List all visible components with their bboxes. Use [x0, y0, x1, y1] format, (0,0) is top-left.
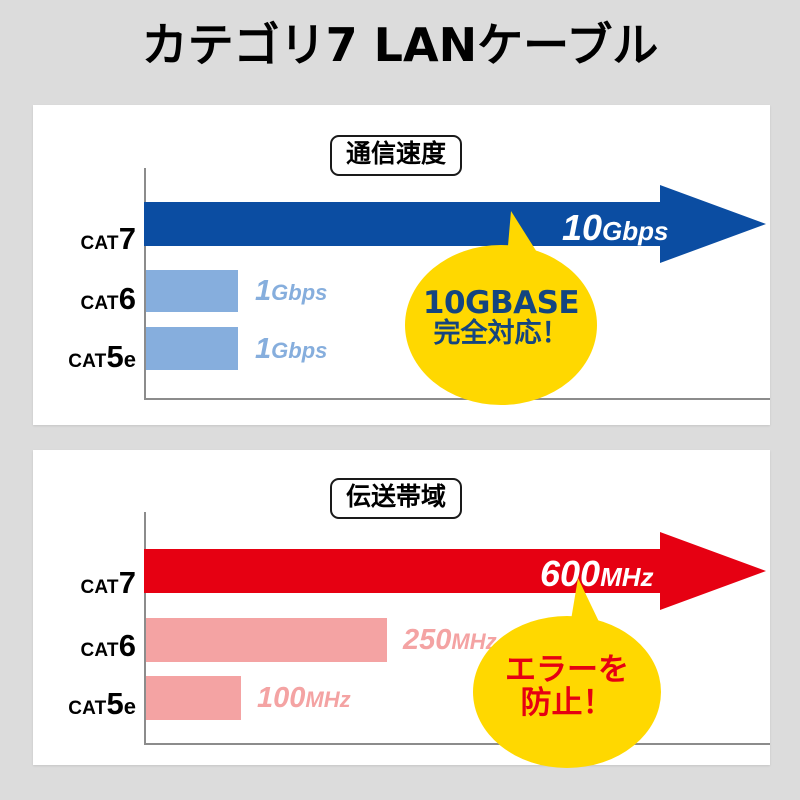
bar-value-number: 10: [562, 207, 602, 248]
cat-number: 6: [119, 281, 136, 316]
callout-line1: エラーを: [473, 654, 661, 687]
bar-cat6-band: [146, 618, 387, 662]
bar-value-number: 250: [403, 624, 451, 656]
cat-prefix: CAT: [81, 293, 119, 314]
bar-value-cat7-speed: 10Gbps: [562, 210, 669, 246]
cat-suffix: e: [124, 347, 136, 372]
cat-number: 7: [119, 221, 136, 256]
bar-value-unit: MHz: [305, 687, 350, 712]
cat-suffix: e: [124, 694, 136, 719]
category-label-cat5e-speed: CAT5e: [33, 341, 136, 372]
category-label-cat5e-band: CAT5e: [33, 688, 136, 719]
category-label-cat6-speed: CAT6: [33, 283, 136, 314]
bar-value-cat6-speed: 1Gbps: [255, 277, 327, 306]
infographic-page: カテゴリ7 LANケーブル 通信速度 CAT7 CAT6 CAT5e 10Gbp…: [0, 0, 800, 800]
page-title: カテゴリ7 LANケーブル: [0, 22, 800, 68]
cat-prefix: CAT: [68, 351, 106, 372]
bar-value-number: 100: [257, 682, 305, 714]
callout-line1: 10GBASE: [405, 287, 597, 320]
bar-value-cat5e-band: 100MHz: [257, 684, 351, 713]
bar-cat6-speed: [146, 270, 238, 312]
cat-number: 7: [119, 565, 136, 600]
cat-prefix: CAT: [68, 698, 106, 719]
bar-value-cat5e-speed: 1Gbps: [255, 335, 327, 364]
callout-bubble-band: エラーを 防止！: [473, 616, 661, 768]
bar-value-number: 1: [255, 275, 271, 307]
bar-value-unit: Gbps: [271, 338, 327, 363]
chart-panel-band: 伝送帯域 CAT7 CAT6 CAT5e 600MHz 250MHz: [33, 450, 770, 765]
callout-bubble-speed: 10GBASE 完全対応！: [405, 245, 597, 405]
section-header-speed: 通信速度: [330, 135, 462, 176]
category-label-cat7-speed: CAT7: [33, 223, 136, 254]
callout-text-speed: 10GBASE 完全対応！: [405, 287, 597, 348]
cat-prefix: CAT: [81, 233, 119, 254]
chart-panel-speed: 通信速度 CAT7 CAT6 CAT5e 10Gbps 1Gbps: [33, 105, 770, 425]
bar-value-number: 1: [255, 333, 271, 365]
bar-cat7-band: 600MHz: [144, 532, 766, 610]
x-axis-band: [144, 743, 770, 745]
cat-number: 6: [119, 628, 136, 663]
bar-cat5e-band: [146, 676, 241, 720]
callout-line2: 完全対応！: [405, 320, 597, 349]
cat-number: 5: [107, 686, 124, 721]
bar-value-unit: Gbps: [602, 216, 668, 246]
callout-text-band: エラーを 防止！: [473, 654, 661, 720]
cat-prefix: CAT: [81, 577, 119, 598]
section-header-band: 伝送帯域: [330, 478, 462, 519]
category-label-cat7-band: CAT7: [33, 567, 136, 598]
callout-line2: 防止！: [473, 687, 661, 720]
bar-value-unit: Gbps: [271, 280, 327, 305]
bar-cat5e-speed: [146, 327, 238, 370]
cat-prefix: CAT: [81, 640, 119, 661]
category-label-cat6-band: CAT6: [33, 630, 136, 661]
cat-number: 5: [107, 339, 124, 374]
